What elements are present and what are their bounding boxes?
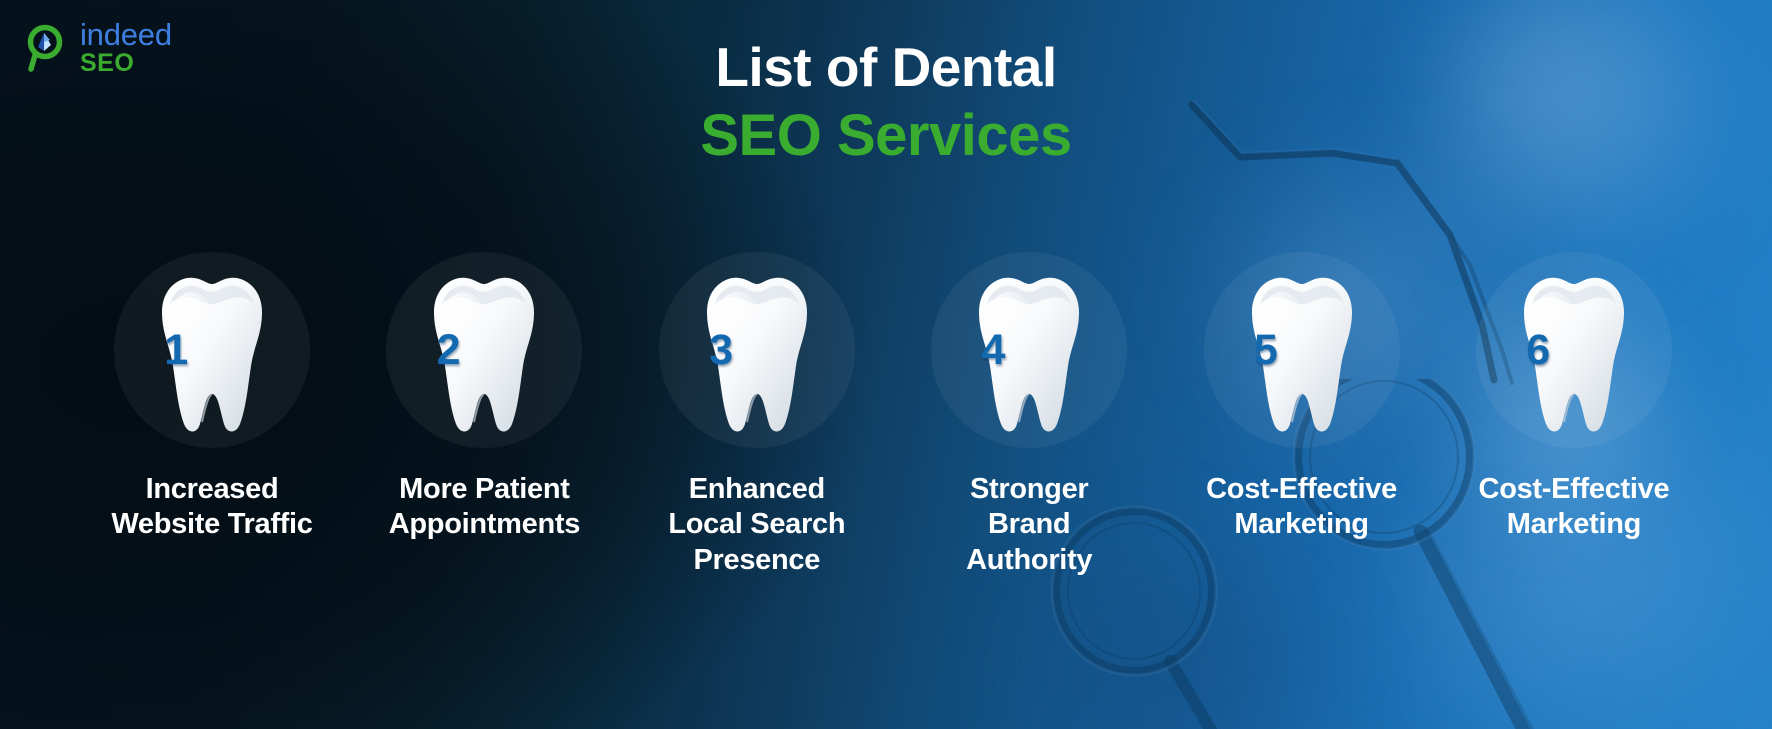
tooth-icon-wrap: 5 <box>1202 250 1402 450</box>
service-item[interactable]: 4 Stronger Brand Authority <box>895 250 1163 578</box>
tooth-icon-wrap: 1 <box>112 250 312 450</box>
item-label: More Patient Appointments <box>389 472 580 543</box>
page-title: List of Dental SEO Services <box>0 38 1772 168</box>
tooth-icon <box>420 268 548 436</box>
service-item[interactable]: 2 More Patient Appointments <box>350 250 618 543</box>
tooth-icon-wrap: 6 <box>1474 250 1674 450</box>
item-label: Stronger Brand Authority <box>966 472 1092 578</box>
tooth-icon-wrap: 2 <box>384 250 584 450</box>
tooth-icon-wrap: 4 <box>929 250 1129 450</box>
item-label: Cost-Effective Marketing <box>1479 472 1670 543</box>
title-line-2: SEO Services <box>0 105 1772 168</box>
service-item[interactable]: 1 Increased Website Traffic <box>78 250 346 543</box>
title-line-1: List of Dental <box>0 38 1772 97</box>
tooth-icon-wrap: 3 <box>657 250 857 450</box>
tooth-icon <box>1510 268 1638 436</box>
infographic-canvas: indeed SEO List of Dental SEO Services <box>0 0 1772 729</box>
tooth-icon <box>1238 268 1366 436</box>
item-label: Enhanced Local Search Presence <box>668 472 845 578</box>
tooth-icon <box>965 268 1093 436</box>
service-list: 1 Increased Website Traffic 2 More Patie… <box>78 250 1708 578</box>
item-label: Increased Website Traffic <box>111 472 312 543</box>
service-item[interactable]: 6 Cost-Effective Marketing <box>1440 250 1708 543</box>
tooth-icon <box>693 268 821 436</box>
service-item[interactable]: 3 Enhanced Local Search Presence <box>623 250 891 578</box>
item-label: Cost-Effective Marketing <box>1206 472 1397 543</box>
service-item[interactable]: 5 Cost-Effective Marketing <box>1168 250 1436 543</box>
tooth-icon <box>148 268 276 436</box>
